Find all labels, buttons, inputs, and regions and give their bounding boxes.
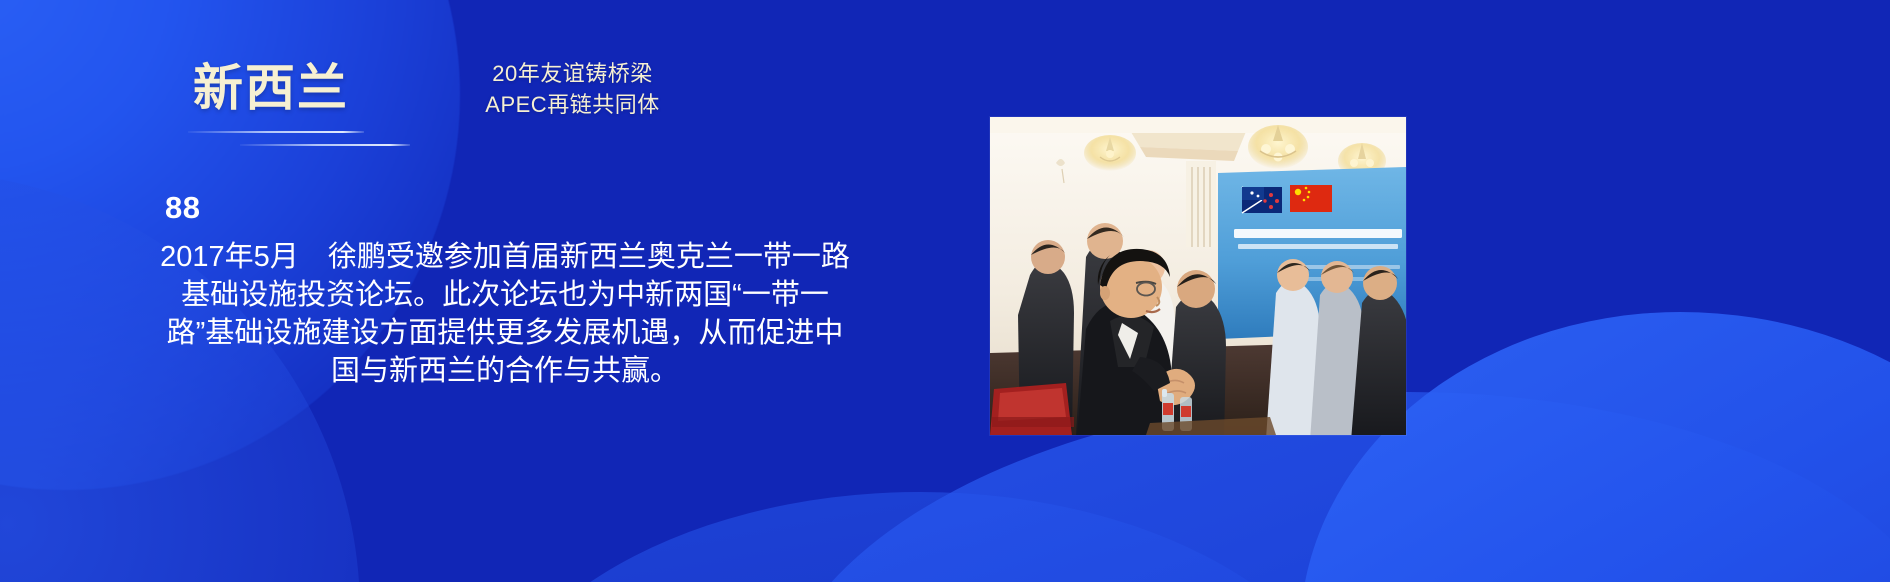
conference-photo [990,117,1406,435]
red-chair [990,383,1074,435]
title-underline-lower [240,144,410,146]
conference-photo-illustration [990,117,1406,435]
item-number: 88 [165,192,200,223]
title-underline-upper [188,131,364,133]
body-paragraph: 2017年5月 徐鹏受邀参加首届新西兰奥克兰一带一路基础设施投资论坛。此次论坛也… [160,238,850,390]
subtitle-block: 20年友谊铸桥梁 APEC再链共同体 [430,58,715,120]
subtitle-line-2: APEC再链共同体 [430,89,715,120]
title-underline-decoration [188,131,438,153]
subtitle-line-1: 20年友谊铸桥梁 [430,58,715,89]
slide-canvas: 新西兰 20年友谊铸桥梁 APEC再链共同体 88 2017年5月 徐鹏受邀参加… [0,0,1890,582]
page-title: 新西兰 [193,63,349,113]
